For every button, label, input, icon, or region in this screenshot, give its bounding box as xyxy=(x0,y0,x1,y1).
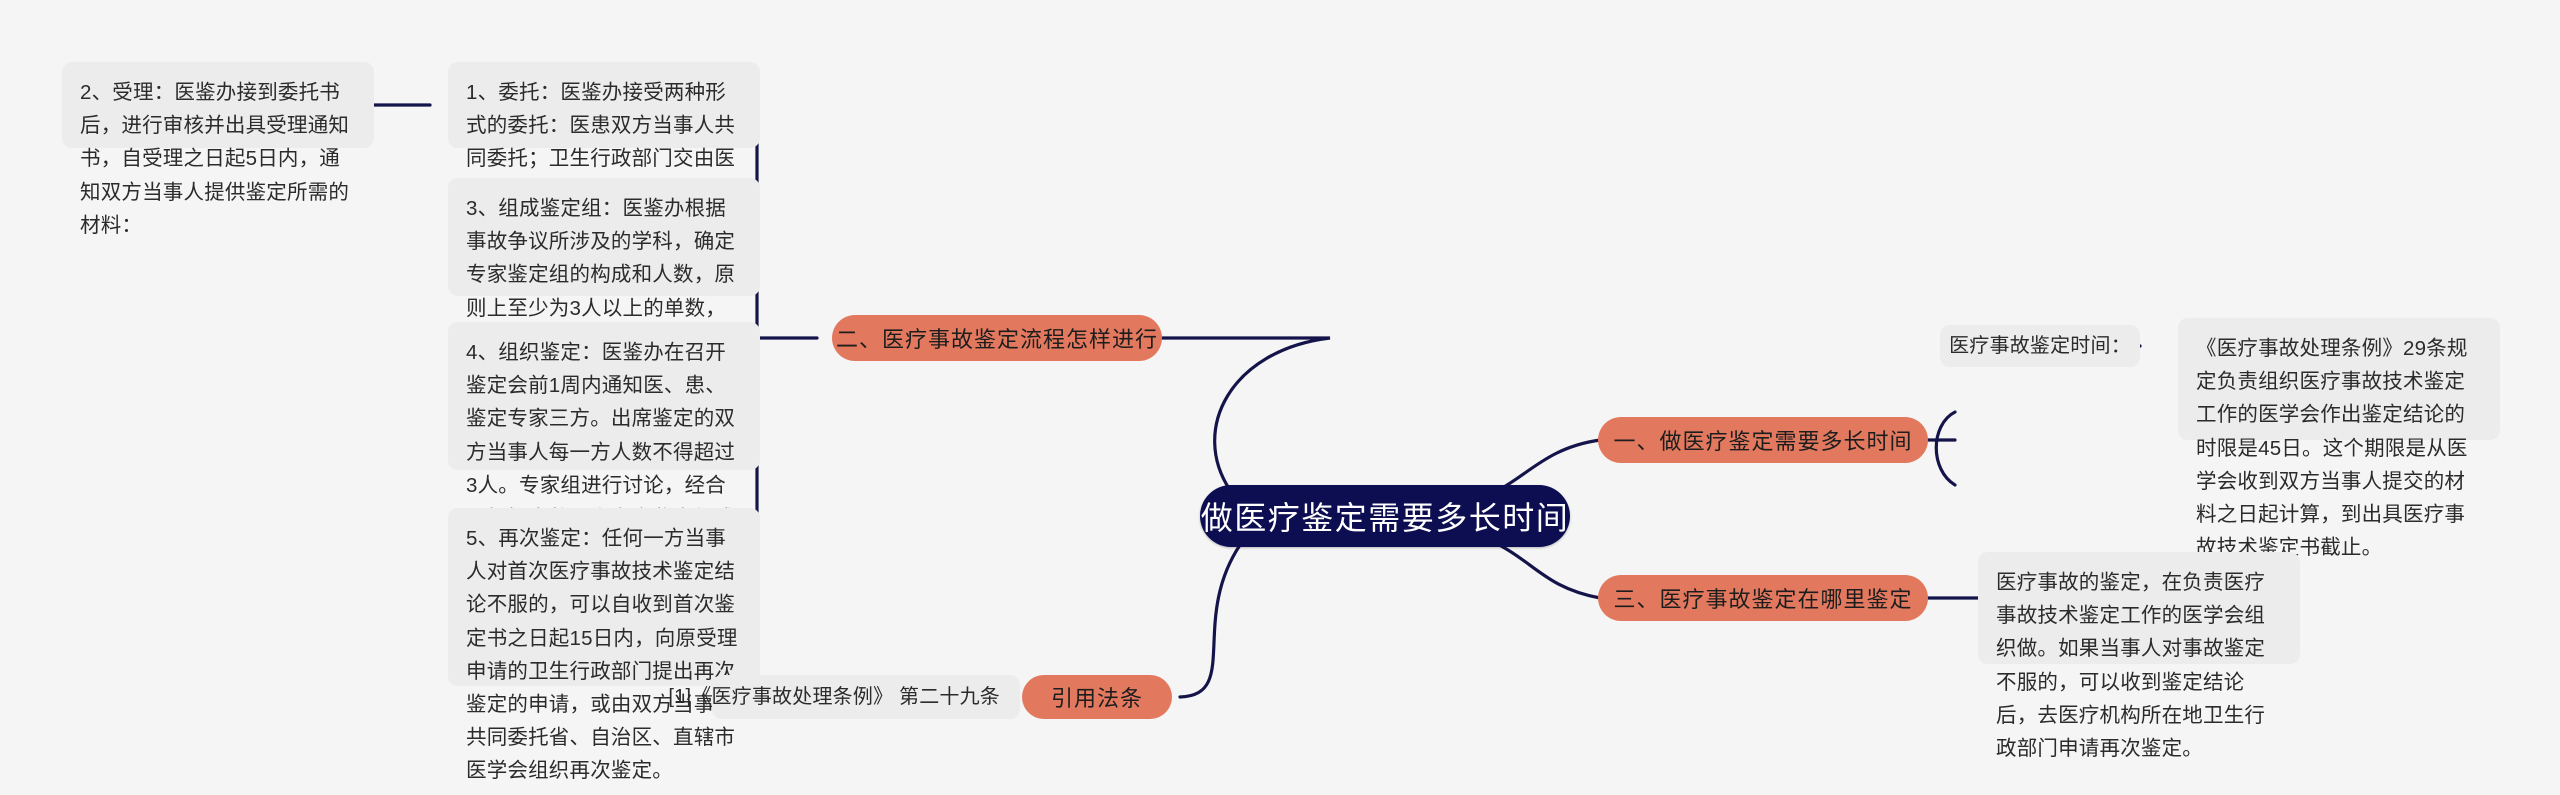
mindmap-canvas: 做医疗鉴定需要多长时间 二、医疗事故鉴定流程怎样进行 一、做医疗鉴定需要多长时间… xyxy=(0,0,2560,795)
branch-node-3-label: 三、医疗事故鉴定在哪里鉴定 xyxy=(1613,582,1912,614)
branch-node-1-label: 一、做医疗鉴定需要多长时间 xyxy=(1613,424,1912,456)
branch-node-1[interactable]: 一、做医疗鉴定需要多长时间 xyxy=(1598,417,1928,463)
branch-node-4-label: 引用法条 xyxy=(1051,681,1143,713)
branch-node-2-label: 二、医疗事故鉴定流程怎样进行 xyxy=(836,322,1158,354)
leaf-step-1[interactable]: 1、委托：医鉴办接受两种形式的委托：医患双方当事人共同委托；卫生行政部门交由医学… xyxy=(448,62,760,148)
leaf-time-detail[interactable]: 《医疗事故处理条例》29条规定负责组织医疗事故技术鉴定工作的医学会作出鉴定结论的… xyxy=(2178,318,2500,440)
branch-node-2[interactable]: 二、医疗事故鉴定流程怎样进行 xyxy=(832,315,1162,361)
link-root-branch4 xyxy=(1180,545,1240,697)
leaf-step-4[interactable]: 4、组织鉴定：医鉴办在召开鉴定会前1周内通知医、患、鉴定专家三方。出席鉴定的双方… xyxy=(448,322,760,470)
branch-node-3[interactable]: 三、医疗事故鉴定在哪里鉴定 xyxy=(1598,575,1928,621)
leaf-time-label[interactable]: 医疗事故鉴定时间： xyxy=(1940,325,2140,367)
leaf-where-detail[interactable]: 医疗事故的鉴定，在负责医疗事故技术鉴定工作的医学会组织做。如果当事人对事故鉴定不… xyxy=(1978,552,2300,664)
leaf-step-3[interactable]: 3、组成鉴定组：医鉴办根据事故争议所涉及的学科，确定专家鉴定组的构成和人数，原则… xyxy=(448,178,760,296)
link-root-branch2 xyxy=(1160,338,1330,490)
branch-node-4[interactable]: 引用法条 xyxy=(1022,675,1172,719)
root-node-label: 做医疗鉴定需要多长时间 xyxy=(1201,493,1570,539)
leaf-step-2[interactable]: 2、受理：医鉴办接到委托书后，进行审核并出具受理通知书，自受理之日起5日内，通知… xyxy=(62,62,374,148)
leaf-law-reference[interactable]: [1]《医疗事故处理条例》 第二十九条 xyxy=(712,675,1020,719)
root-node[interactable]: 做医疗鉴定需要多长时间 xyxy=(1200,485,1570,547)
leaf-step-5[interactable]: 5、再次鉴定：任何一方当事人对首次医疗事故技术鉴定结论不服的，可以自收到首次鉴定… xyxy=(448,508,760,686)
link-branch1-spine xyxy=(1936,412,1955,485)
